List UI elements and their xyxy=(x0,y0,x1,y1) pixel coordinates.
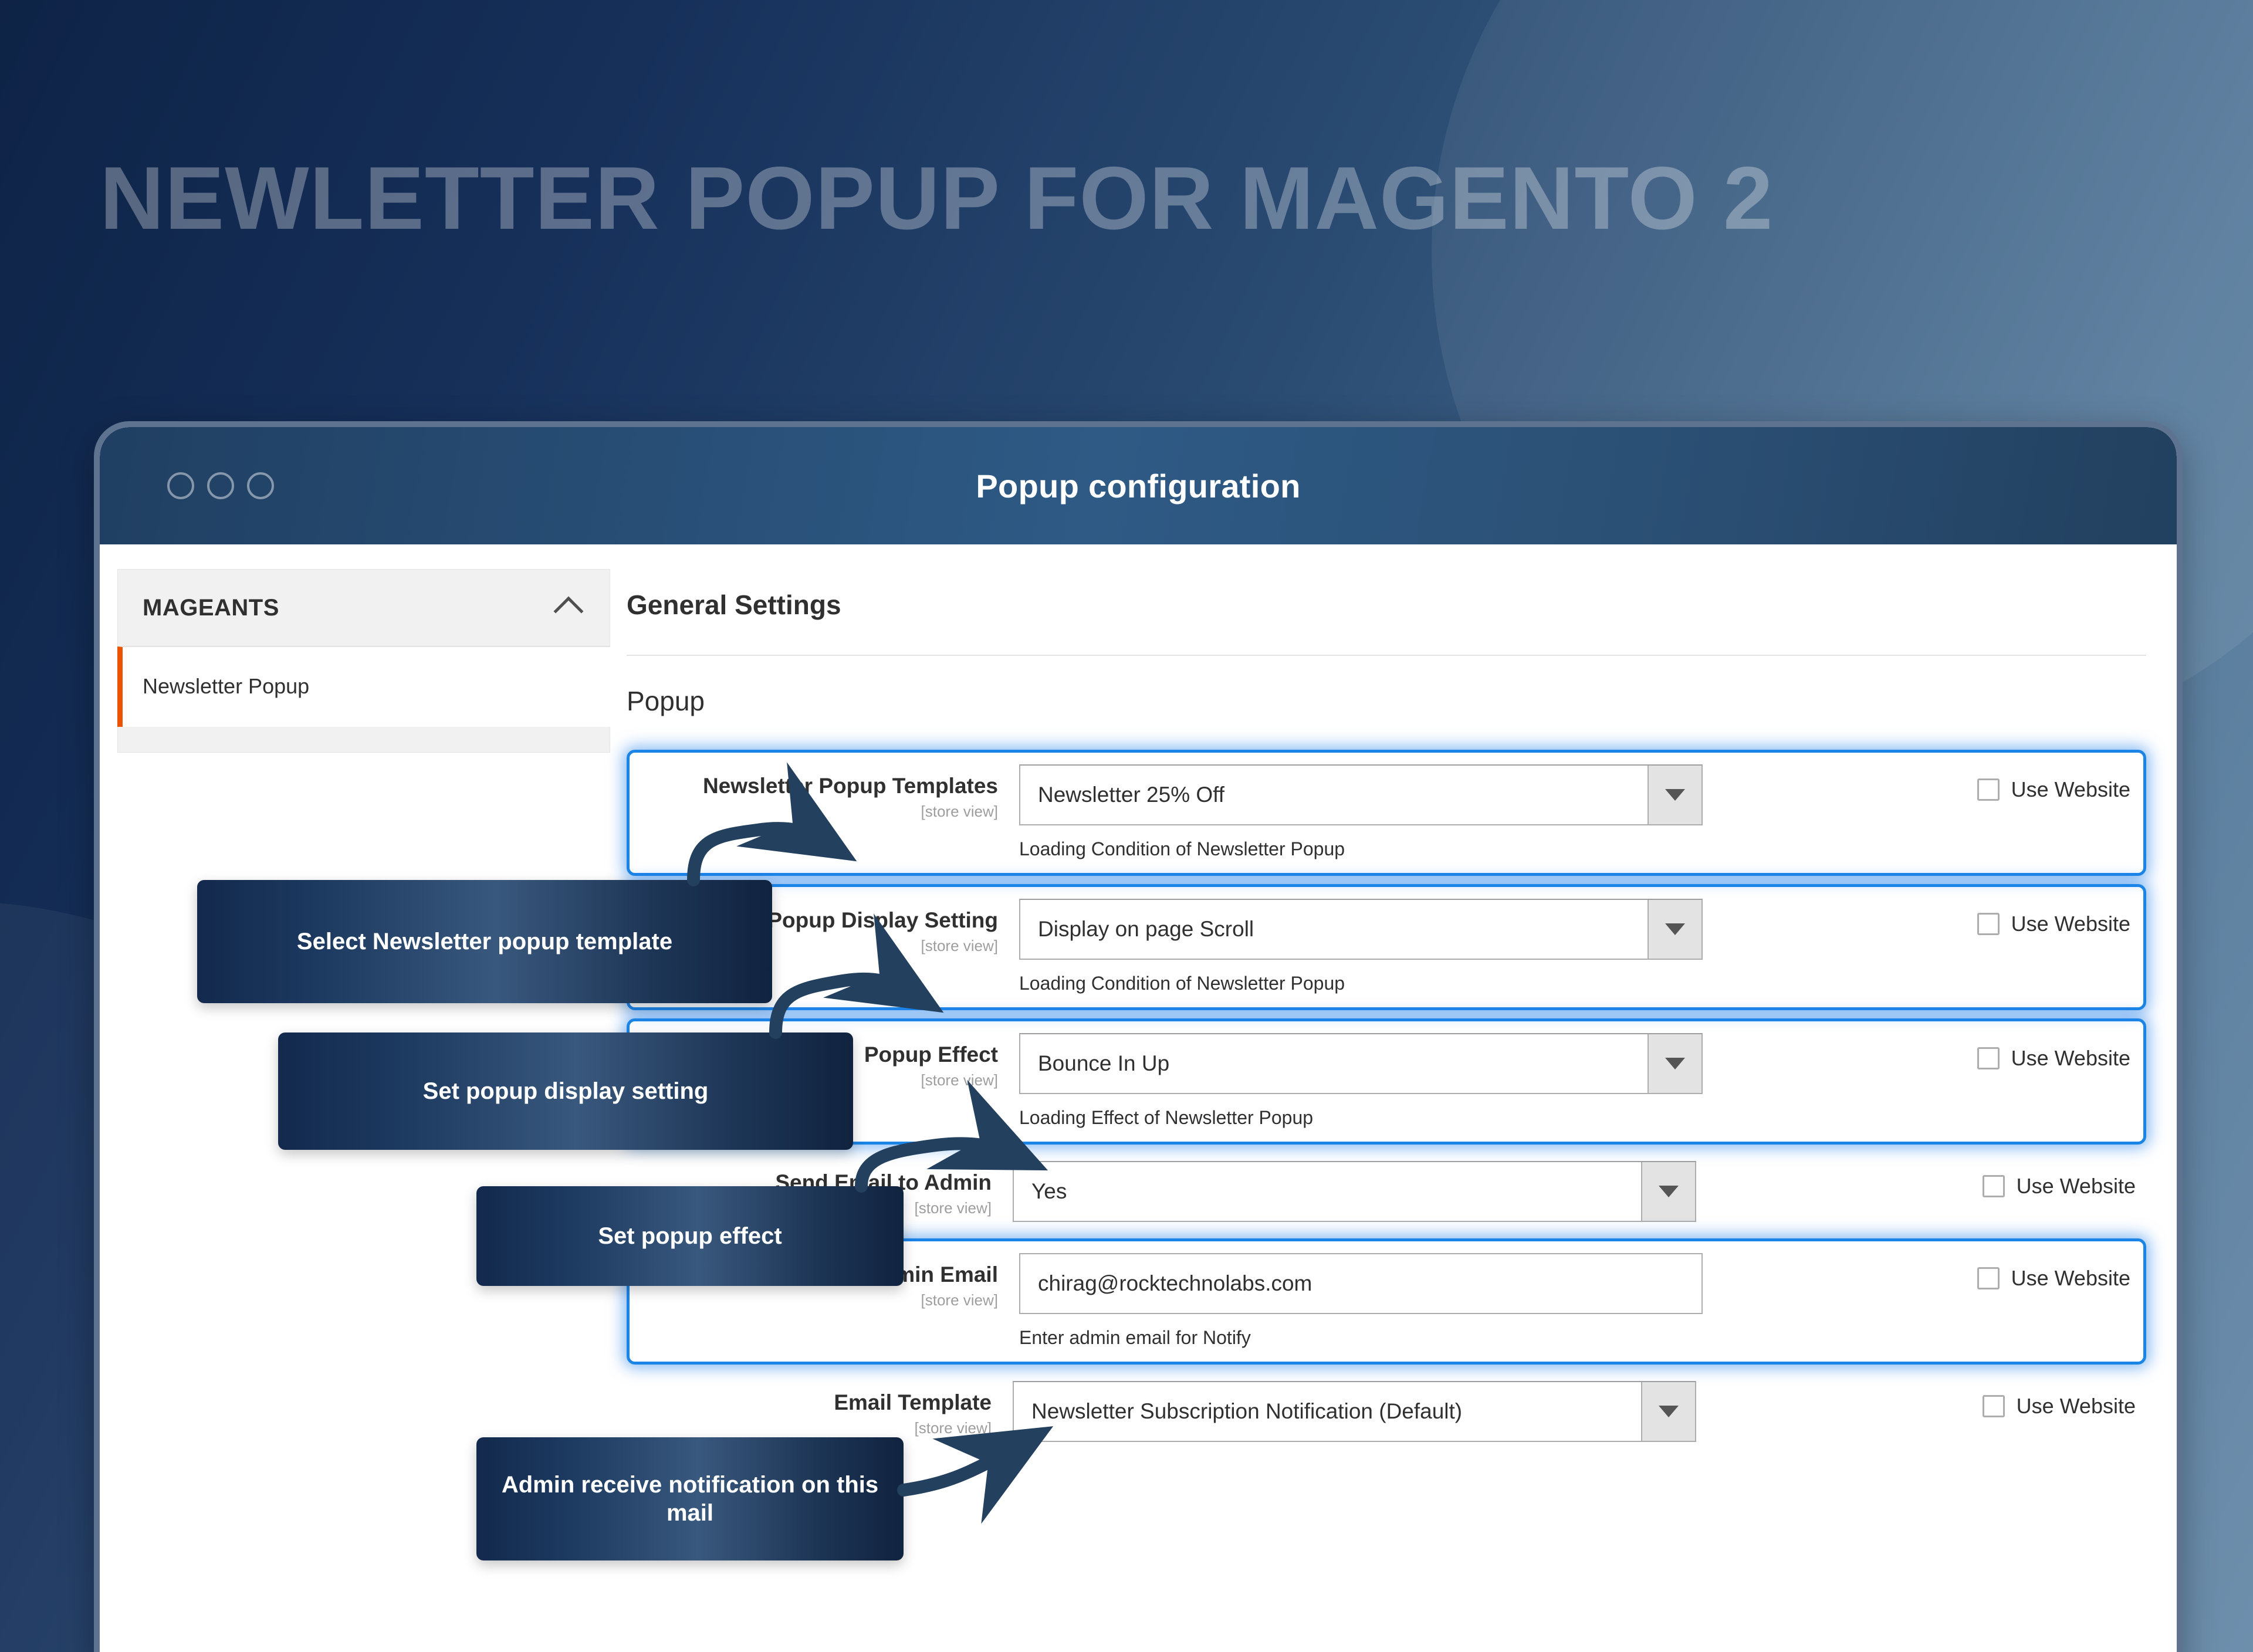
callout-text: Set popup display setting xyxy=(423,1077,709,1105)
newsletter-popup-template-select[interactable]: Newsletter 25% Off xyxy=(1019,764,1703,825)
window-dot-2-icon[interactable] xyxy=(207,472,234,499)
admin-content: General Settings Popup Newsletter Popup … xyxy=(610,569,2177,1458)
checkbox-unchecked-icon[interactable] xyxy=(1977,1267,2000,1289)
poster-stage: NEWLETTER POPUP FOR MAGENTO 2 Popup conf… xyxy=(0,0,2253,1652)
checkbox-unchecked-icon[interactable] xyxy=(1983,1395,2005,1417)
callout-set-popup-effect: Set popup effect xyxy=(476,1186,904,1286)
checkbox-unchecked-icon[interactable] xyxy=(1977,913,2000,935)
window-dot-3-icon[interactable] xyxy=(247,472,274,499)
field-label-col: Email Template [store view] xyxy=(637,1381,1013,1437)
hero-headline: NEWLETTER POPUP FOR MAGENTO 2 xyxy=(100,154,2188,243)
select-value: Newsletter Subscription Notification (De… xyxy=(1014,1399,1462,1424)
chevron-down-icon[interactable] xyxy=(1641,1382,1695,1441)
field-control-col: Newsletter 25% Off Loading Condition of … xyxy=(1019,764,1944,860)
field-row-newsletter-popup-templates: Newsletter Popup Templates [store view] … xyxy=(627,750,2146,876)
select-value: Bounce In Up xyxy=(1020,1051,1169,1076)
admin-layout: MAGEANTS Newsletter Popup General Settin… xyxy=(100,569,2177,1458)
sidebar-item-label: Newsletter Popup xyxy=(143,674,309,698)
field-control-col: Newsletter Subscription Notification (De… xyxy=(1013,1381,1950,1442)
field-control-col: Yes xyxy=(1013,1161,1950,1222)
window-titlebar: Popup configuration xyxy=(100,427,2177,544)
callout-select-newsletter-popup-template: Select Newsletter popup template xyxy=(197,880,772,1003)
callout-text: Set popup effect xyxy=(598,1222,782,1250)
use-website-label: Use Website xyxy=(2011,777,2130,802)
callout-admin-receive-notification: Admin receive notification on this mail xyxy=(476,1437,904,1560)
use-website-group[interactable]: Use Website xyxy=(1944,764,2130,802)
popup-settings-form: Newsletter Popup Templates [store view] … xyxy=(627,750,2146,1450)
field-control-col: Bounce In Up Loading Effect of Newslette… xyxy=(1019,1033,1944,1129)
window-dot-1-icon[interactable] xyxy=(167,472,194,499)
chevron-down-icon[interactable] xyxy=(1648,766,1701,824)
sidebar-group-mageants[interactable]: MAGEANTS xyxy=(117,569,610,646)
email-template-select[interactable]: Newsletter Subscription Notification (De… xyxy=(1013,1381,1696,1442)
sidebar-group-header[interactable]: MAGEANTS xyxy=(118,570,610,646)
checkbox-unchecked-icon[interactable] xyxy=(1977,778,2000,801)
checkbox-unchecked-icon[interactable] xyxy=(1977,1047,2000,1069)
sidebar-item-newsletter-popup[interactable]: Newsletter Popup xyxy=(117,646,610,727)
use-website-group[interactable]: Use Website xyxy=(1950,1161,2136,1199)
field-control-col: Display on page Scroll Loading Condition… xyxy=(1019,899,1944,994)
use-website-label: Use Website xyxy=(2011,1046,2130,1071)
field-scope: [store view] xyxy=(644,803,998,821)
select-value: Newsletter 25% Off xyxy=(1020,783,1224,807)
window-controls xyxy=(167,472,274,499)
field-label: Email Template xyxy=(637,1392,992,1414)
sidebar-filler xyxy=(117,727,610,753)
window-title: Popup configuration xyxy=(976,467,1300,505)
callout-text: Admin receive notification on this mail xyxy=(500,1471,880,1527)
send-email-to-admin-select[interactable]: Yes xyxy=(1013,1161,1696,1222)
field-hint: Loading Condition of Newsletter Popup xyxy=(1019,973,1944,994)
use-website-label: Use Website xyxy=(2017,1394,2136,1419)
use-website-group[interactable]: Use Website xyxy=(1944,1253,2130,1291)
field-hint: Loading Effect of Newsletter Popup xyxy=(1019,1107,1944,1129)
field-row-popup-effect: Popup Effect [store view] Bounce In Up L… xyxy=(627,1018,2146,1145)
checkbox-unchecked-icon[interactable] xyxy=(1983,1175,2005,1197)
chevron-down-icon[interactable] xyxy=(1648,900,1701,959)
popup-effect-select[interactable]: Bounce In Up xyxy=(1019,1033,1703,1094)
use-website-label: Use Website xyxy=(2011,1266,2130,1291)
use-website-group[interactable]: Use Website xyxy=(1950,1381,2136,1419)
sidebar-group-label: MAGEANTS xyxy=(143,595,279,621)
section-title: Popup xyxy=(627,656,2146,717)
field-label: Newsletter Popup Templates xyxy=(644,775,998,798)
input-value: chirag@rocktechnolabs.com xyxy=(1020,1271,1312,1296)
field-label-col: Newsletter Popup Templates [store view] xyxy=(644,764,1019,821)
select-value: Yes xyxy=(1014,1179,1067,1204)
field-scope: [store view] xyxy=(637,1419,992,1437)
use-website-group[interactable]: Use Website xyxy=(1944,899,2130,936)
use-website-group[interactable]: Use Website xyxy=(1944,1033,2130,1071)
chevron-down-icon[interactable] xyxy=(1648,1034,1701,1093)
admin-email-input[interactable]: chirag@rocktechnolabs.com xyxy=(1019,1253,1703,1314)
popup-display-setting-select[interactable]: Display on page Scroll xyxy=(1019,899,1703,960)
chevron-down-icon[interactable] xyxy=(1641,1162,1695,1221)
field-hint: Enter admin email for Notify xyxy=(1019,1327,1944,1349)
field-hint: Loading Condition of Newsletter Popup xyxy=(1019,838,1944,860)
page-title: General Settings xyxy=(627,569,2146,656)
admin-sidebar: MAGEANTS Newsletter Popup xyxy=(100,569,610,753)
callout-text: Select Newsletter popup template xyxy=(297,927,672,956)
select-value: Display on page Scroll xyxy=(1020,917,1254,942)
chevron-up-icon[interactable] xyxy=(554,597,584,627)
callout-set-popup-display-setting: Set popup display setting xyxy=(278,1032,853,1150)
field-control-col: chirag@rocktechnolabs.com Enter admin em… xyxy=(1019,1253,1944,1349)
field-row-popup-display-setting: Popup Display Setting [store view] Displ… xyxy=(627,884,2146,1010)
use-website-label: Use Website xyxy=(2011,912,2130,936)
field-scope: [store view] xyxy=(644,1291,998,1309)
use-website-label: Use Website xyxy=(2017,1174,2136,1199)
